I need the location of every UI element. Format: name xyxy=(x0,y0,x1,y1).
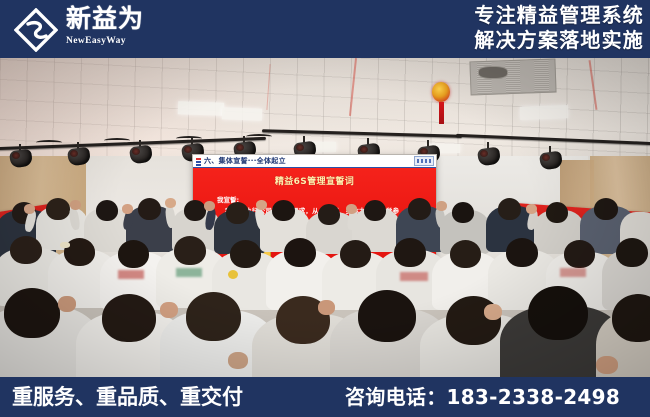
attendee-head xyxy=(546,202,568,223)
uniform-back-logo xyxy=(560,268,586,277)
truss-cable xyxy=(104,138,130,143)
raised-fist xyxy=(596,356,618,374)
slide-header-bar: 六、集体宣誓···全体起立 xyxy=(193,155,436,168)
attendee-head xyxy=(96,200,118,221)
slide-accent-bars-icon xyxy=(196,158,201,166)
raised-fist xyxy=(204,201,215,211)
header-slogan: 专注精益管理系统 解决方案落地实施 xyxy=(474,3,644,53)
brand-logo: 新益为 NewEasyWay xyxy=(14,4,164,54)
truss-cable xyxy=(176,136,202,141)
attendee-head xyxy=(272,200,295,221)
uniform-back-logo xyxy=(118,270,144,279)
attendee-head xyxy=(318,204,340,225)
attendee-head xyxy=(10,236,42,264)
attendee-head xyxy=(174,236,206,265)
attendee-head xyxy=(450,240,481,268)
attendee-head xyxy=(394,238,426,267)
diamond-swirl-logo-icon xyxy=(14,8,58,52)
attendee-head xyxy=(340,240,371,268)
footer-tagline: 重服务、重品质、重交付 xyxy=(12,384,243,410)
brand-text: 新益为 NewEasyWay xyxy=(66,4,166,54)
attendee-head-front xyxy=(102,294,156,342)
bottom-banner: 重服务、重品质、重交付 咨询电话：183-2338-2498 xyxy=(0,377,650,417)
hair-clip xyxy=(60,242,70,248)
attendee-head xyxy=(506,238,538,267)
audience-crowd xyxy=(0,206,650,380)
attendee-head xyxy=(616,238,648,267)
ceiling-light-panel xyxy=(222,107,262,120)
chinese-knot-ornament xyxy=(432,82,450,124)
conference-photo: 精益求精 精造品质 项目导入：安全发展 科技创新 提质增效 六、集体宣誓···全… xyxy=(0,56,650,380)
raised-fist xyxy=(58,296,76,312)
slide-title: 精益6S管理宣誓词 xyxy=(193,174,436,187)
ceiling-light-panel xyxy=(520,105,568,120)
attendee-head-front xyxy=(4,288,60,338)
attendee-head xyxy=(284,238,316,267)
raised-fist xyxy=(165,198,176,208)
hair-tie xyxy=(228,270,238,279)
footer-contact[interactable]: 咨询电话：183-2338-2498 xyxy=(345,385,620,410)
truss-cable xyxy=(246,134,272,139)
slogan-line-1: 专注精益管理系统 xyxy=(474,3,644,28)
attendee-head xyxy=(138,198,161,220)
uniform-back-logo xyxy=(400,272,428,281)
attendee-head xyxy=(452,202,474,223)
attendee-head xyxy=(564,240,595,268)
raised-fist xyxy=(160,302,178,318)
knot-tassel xyxy=(439,102,444,124)
raised-fist xyxy=(122,204,133,214)
slogan-line-2: 解决方案落地实施 xyxy=(474,28,644,53)
slide-image: 精益求精 精造品质 项目导入：安全发展 科技创新 提质增效 六、集体宣誓···全… xyxy=(0,0,650,417)
attendee-head xyxy=(46,198,70,220)
brand-name-en: NewEasyWay xyxy=(66,35,166,47)
raised-fist xyxy=(484,304,502,320)
uniform-back-logo xyxy=(176,268,202,277)
attendee-head xyxy=(594,198,618,220)
brand-name-cn: 新益为 xyxy=(66,4,166,34)
attendee-head-front xyxy=(358,290,416,342)
attendee-head-front xyxy=(612,294,650,342)
raised-fist xyxy=(346,204,357,214)
raised-fist xyxy=(436,201,447,211)
slide-header-text: 六、集体宣誓···全体起立 xyxy=(204,157,286,166)
top-banner: 新益为 NewEasyWay 专注精益管理系统 解决方案落地实施 xyxy=(0,0,650,58)
raised-fist xyxy=(24,204,35,214)
attendee-head-front xyxy=(528,286,588,340)
company-logo-icon xyxy=(414,156,434,166)
raised-fist xyxy=(256,200,267,210)
attendee-head xyxy=(498,198,521,220)
attendee-head xyxy=(184,200,206,221)
attendee-head xyxy=(230,240,261,268)
attendee-head xyxy=(364,200,386,221)
attendee-head xyxy=(226,202,249,224)
attendee-head xyxy=(408,198,431,220)
knot-ball xyxy=(432,82,450,102)
attendee-head-front xyxy=(186,292,241,341)
attendee-head xyxy=(118,240,149,268)
vent-opening xyxy=(478,66,508,79)
raised-fist xyxy=(526,204,537,214)
raised-fist xyxy=(228,352,248,369)
raised-fist xyxy=(70,200,81,210)
truss-cable xyxy=(36,140,62,145)
raised-fist xyxy=(318,300,335,315)
ceiling-light-panel xyxy=(178,101,224,116)
